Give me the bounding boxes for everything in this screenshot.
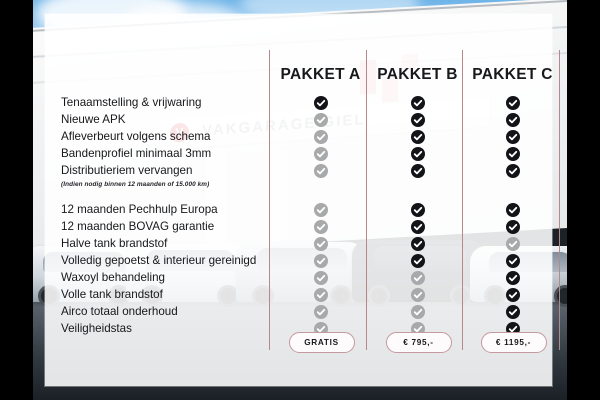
check-circle-icon: [314, 130, 328, 144]
check-cell: [273, 145, 368, 162]
check-circle-icon: [314, 147, 328, 161]
check-circle-icon: [506, 113, 520, 127]
check-circle-icon: [411, 271, 425, 285]
check-circle-icon: [411, 254, 425, 268]
price-button-b[interactable]: € 795,-: [386, 332, 452, 353]
feature-label: Bandenprofiel minimaal 3mm: [61, 145, 276, 162]
check-circle-icon: [506, 164, 520, 178]
check-cell: [465, 235, 560, 252]
check-cell: [273, 269, 368, 286]
price-button-c[interactable]: € 1195,-: [481, 332, 547, 353]
package-header-row: PAKKET APAKKET BPAKKET C: [45, 66, 552, 92]
check-cell: [370, 162, 465, 179]
check-cell: [370, 201, 465, 218]
check-circle-icon: [506, 220, 520, 234]
feature-label: Halve tank brandstof: [61, 235, 276, 252]
check-cell: [370, 145, 465, 162]
check-circle-icon: [314, 96, 328, 110]
check-cell: [273, 94, 368, 111]
letterbox-bar-left: [0, 0, 33, 400]
check-circle-icon: [314, 113, 328, 127]
check-column-a: [273, 94, 368, 337]
check-circle-icon: [411, 147, 425, 161]
check-cell: [370, 252, 465, 269]
check-circle-icon: [506, 288, 520, 302]
check-circle-icon: [314, 220, 328, 234]
check-cell: [273, 286, 368, 303]
check-circle-icon: [314, 271, 328, 285]
check-circle-icon: [314, 203, 328, 217]
check-circle-icon: [506, 271, 520, 285]
check-cell: [465, 162, 560, 179]
check-circle-icon: [411, 203, 425, 217]
check-cell: [273, 252, 368, 269]
check-cell: [465, 286, 560, 303]
feature-note: (Indien nodig binnen 12 maanden of 15.00…: [61, 179, 276, 191]
package-header-b: PAKKET B: [370, 66, 465, 84]
check-cell: [273, 235, 368, 252]
check-circle-icon: [506, 305, 520, 319]
check-cell: [273, 128, 368, 145]
feature-label: Afleverbeurt volgens schema: [61, 128, 276, 145]
feature-label: Tenaamstelling & vrijwaring: [61, 94, 276, 111]
check-cell: [465, 94, 560, 111]
check-circle-icon: [411, 305, 425, 319]
spacer: [465, 179, 560, 191]
check-cell: [465, 252, 560, 269]
check-circle-icon: [506, 203, 520, 217]
check-cell: [273, 162, 368, 179]
check-circle-icon: [314, 237, 328, 251]
check-cell: [370, 128, 465, 145]
check-circle-icon: [411, 113, 425, 127]
check-circle-icon: [506, 130, 520, 144]
spacer: [273, 179, 368, 191]
check-cell: [370, 303, 465, 320]
feature-label: Airco totaal onderhoud: [61, 303, 276, 320]
check-cell: [273, 303, 368, 320]
check-cell: [465, 111, 560, 128]
check-column-c: [465, 94, 560, 337]
check-circle-icon: [411, 220, 425, 234]
check-cell: [370, 218, 465, 235]
package-header-c: PAKKET C: [465, 66, 560, 84]
check-column-b: [370, 94, 465, 337]
check-cell: [465, 218, 560, 235]
check-circle-icon: [411, 164, 425, 178]
check-circle-icon: [506, 96, 520, 110]
check-circle-icon: [411, 288, 425, 302]
check-circle-icon: [314, 288, 328, 302]
check-cell: [465, 145, 560, 162]
check-circle-icon: [411, 237, 425, 251]
check-cell: [465, 269, 560, 286]
price-button-a[interactable]: GRATIS: [289, 332, 355, 353]
feature-label: Volledig gepoetst & interieur gereinigd: [61, 252, 276, 269]
check-cell: [370, 111, 465, 128]
feature-label-list: Tenaamstelling & vrijwaringNieuwe APKAfl…: [61, 94, 276, 337]
check-circle-icon: [506, 147, 520, 161]
letterbox-bar-right: [567, 0, 600, 400]
check-circle-icon: [411, 130, 425, 144]
check-cell: [465, 303, 560, 320]
feature-label: Nieuwe APK: [61, 111, 276, 128]
check-cell: [370, 235, 465, 252]
pricing-table-screenshot: V VAKGARAGE GIEL: [0, 0, 600, 400]
price-row: GRATIS€ 795,-€ 1195,-: [45, 332, 552, 356]
package-header-a: PAKKET A: [273, 66, 368, 84]
check-circle-icon: [314, 305, 328, 319]
feature-label: Waxoyl behandeling: [61, 269, 276, 286]
check-cell: [370, 94, 465, 111]
check-cell: [273, 218, 368, 235]
check-cell: [370, 269, 465, 286]
check-cell: [370, 286, 465, 303]
package-comparison-card: PAKKET APAKKET BPAKKET C Tenaamstelling …: [45, 14, 552, 386]
feature-label: 12 maanden BOVAG garantie: [61, 218, 276, 235]
check-circle-icon: [411, 96, 425, 110]
check-circle-icon: [506, 237, 520, 251]
check-circle-icon: [506, 254, 520, 268]
feature-label: 12 maanden Pechhulp Europa: [61, 201, 276, 218]
check-cell: [465, 128, 560, 145]
check-circle-icon: [314, 254, 328, 268]
feature-label: Distributieriem vervangen: [61, 162, 276, 179]
check-circle-icon: [314, 164, 328, 178]
check-cell: [273, 111, 368, 128]
check-cell: [465, 201, 560, 218]
spacer: [370, 179, 465, 191]
check-cell: [273, 201, 368, 218]
feature-label: Volle tank brandstof: [61, 286, 276, 303]
